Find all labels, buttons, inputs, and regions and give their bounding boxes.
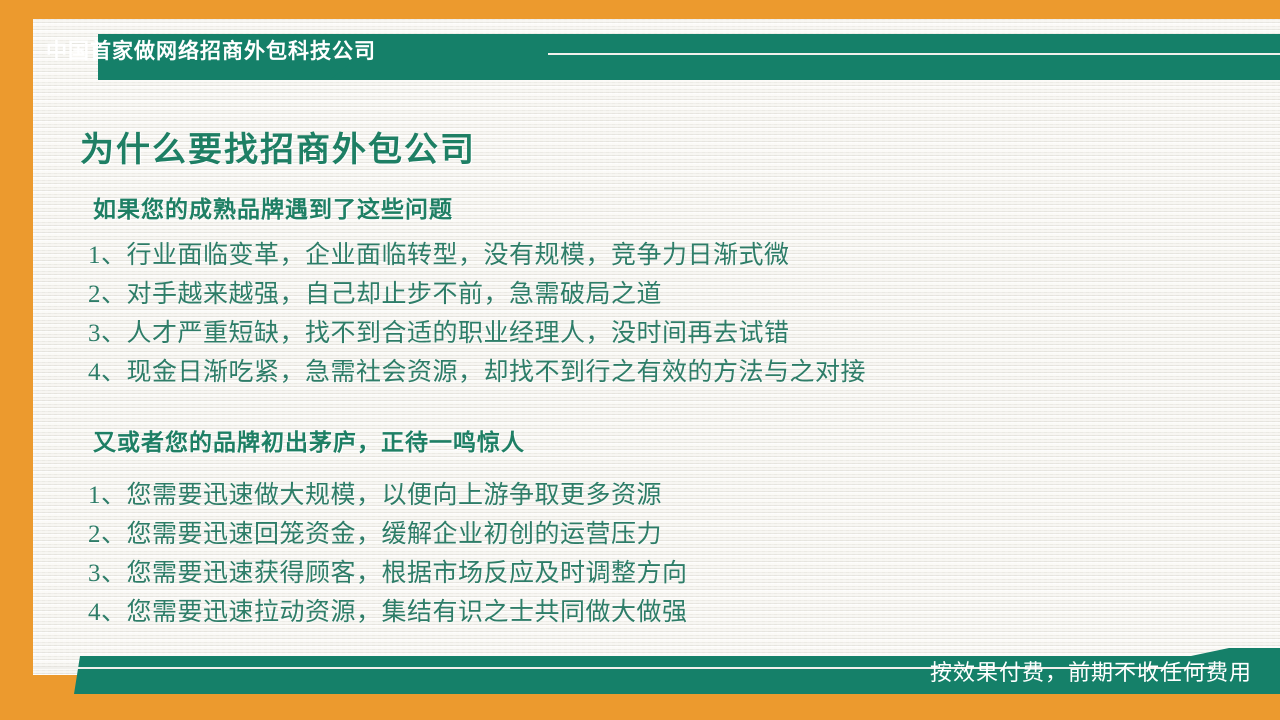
- list-item: 3、您需要迅速获得顾客，根据市场反应及时调整方向: [88, 554, 688, 593]
- page-title: 为什么要找招商外包公司: [80, 122, 476, 171]
- list-item: 1、行业面临变革，企业面临转型，没有规模，竞争力日渐式微: [88, 236, 866, 275]
- footer-tagline: 按效果付费，前期不收任何费用: [930, 655, 1252, 687]
- section-heading-new-brand: 又或者您的品牌初出茅庐，正待一鸣惊人: [93, 423, 525, 457]
- slide-canvas: 中国首家做网络招商外包科技公司 为什么要找招商外包公司 如果您的成熟品牌遇到了这…: [0, 0, 1280, 720]
- section-heading-mature-brand: 如果您的成熟品牌遇到了这些问题: [93, 190, 453, 224]
- list-item: 4、现金日渐吃紧，急需社会资源，却找不到行之有效的方法与之对接: [88, 353, 866, 392]
- list-new-brand-needs: 1、您需要迅速做大规模，以便向上游争取更多资源 2、您需要迅速回笼资金，缓解企业…: [88, 476, 688, 632]
- list-mature-brand-problems: 1、行业面临变革，企业面临转型，没有规模，竞争力日渐式微 2、对手越来越强，自己…: [88, 236, 866, 392]
- list-item: 3、人才严重短缺，找不到合适的职业经理人，没时间再去试错: [88, 314, 866, 353]
- header-banner-text: 中国首家做网络招商外包科技公司: [46, 41, 376, 62]
- header-divider-rule: [548, 53, 1280, 55]
- list-item: 2、对手越来越强，自己却止步不前，急需破局之道: [88, 275, 866, 314]
- list-item: 2、您需要迅速回笼资金，缓解企业初创的运营压力: [88, 515, 688, 554]
- list-item: 4、您需要迅速拉动资源，集结有识之士共同做大做强: [88, 593, 688, 632]
- header-green-band-angled-section: [330, 34, 1280, 80]
- list-item: 1、您需要迅速做大规模，以便向上游争取更多资源: [88, 476, 688, 515]
